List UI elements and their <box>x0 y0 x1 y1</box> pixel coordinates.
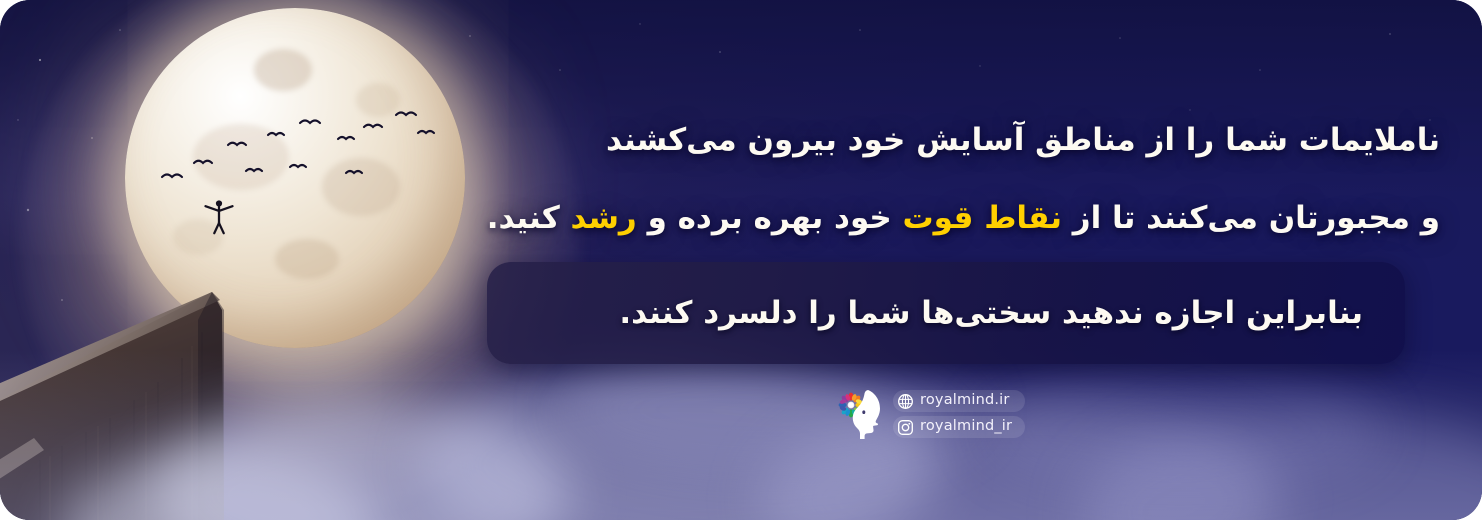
instagram-handle-text: royalmind_ir <box>920 419 1012 435</box>
quote-line-2-segment-b: خود بهره برده و <box>637 200 903 236</box>
quote-line-2-segment-a: و مجبورتان می‌کنند تا از <box>1062 200 1440 236</box>
quote-content: ناملایمات شما را از مناطق آسایش خود بیرو… <box>0 0 1482 520</box>
quote-callout-box: بنابراین اجازه ندهید سختی‌ها شما را دلسر… <box>487 262 1405 364</box>
website-handle[interactable]: royalmind.ir <box>893 390 1025 412</box>
quote-highlight-strengths: نقاط قوت <box>903 200 1062 236</box>
instagram-handle[interactable]: royalmind_ir <box>893 416 1025 438</box>
quote-line-2-segment-c: کنید. <box>487 200 571 236</box>
quote-line-3: بنابراین اجازه ندهید سختی‌ها شما را دلسر… <box>619 292 1363 334</box>
instagram-icon <box>897 419 914 436</box>
brand-footer: royalmind.ir royalmind_ir <box>838 388 1025 440</box>
globe-icon <box>897 393 914 410</box>
quote-line-1: ناملایمات شما را از مناطق آسایش خود بیرو… <box>606 118 1440 162</box>
website-handle-text: royalmind.ir <box>920 393 1010 409</box>
social-handles: royalmind.ir royalmind_ir <box>893 390 1025 438</box>
quote-line-2: و مجبورتان می‌کنند تا از نقاط قوت خود به… <box>487 196 1440 240</box>
royal-mind-head-logo-icon <box>838 388 884 440</box>
motivational-banner: ناملایمات شما را از مناطق آسایش خود بیرو… <box>0 0 1482 520</box>
quote-highlight-growth: رشد <box>571 200 637 236</box>
